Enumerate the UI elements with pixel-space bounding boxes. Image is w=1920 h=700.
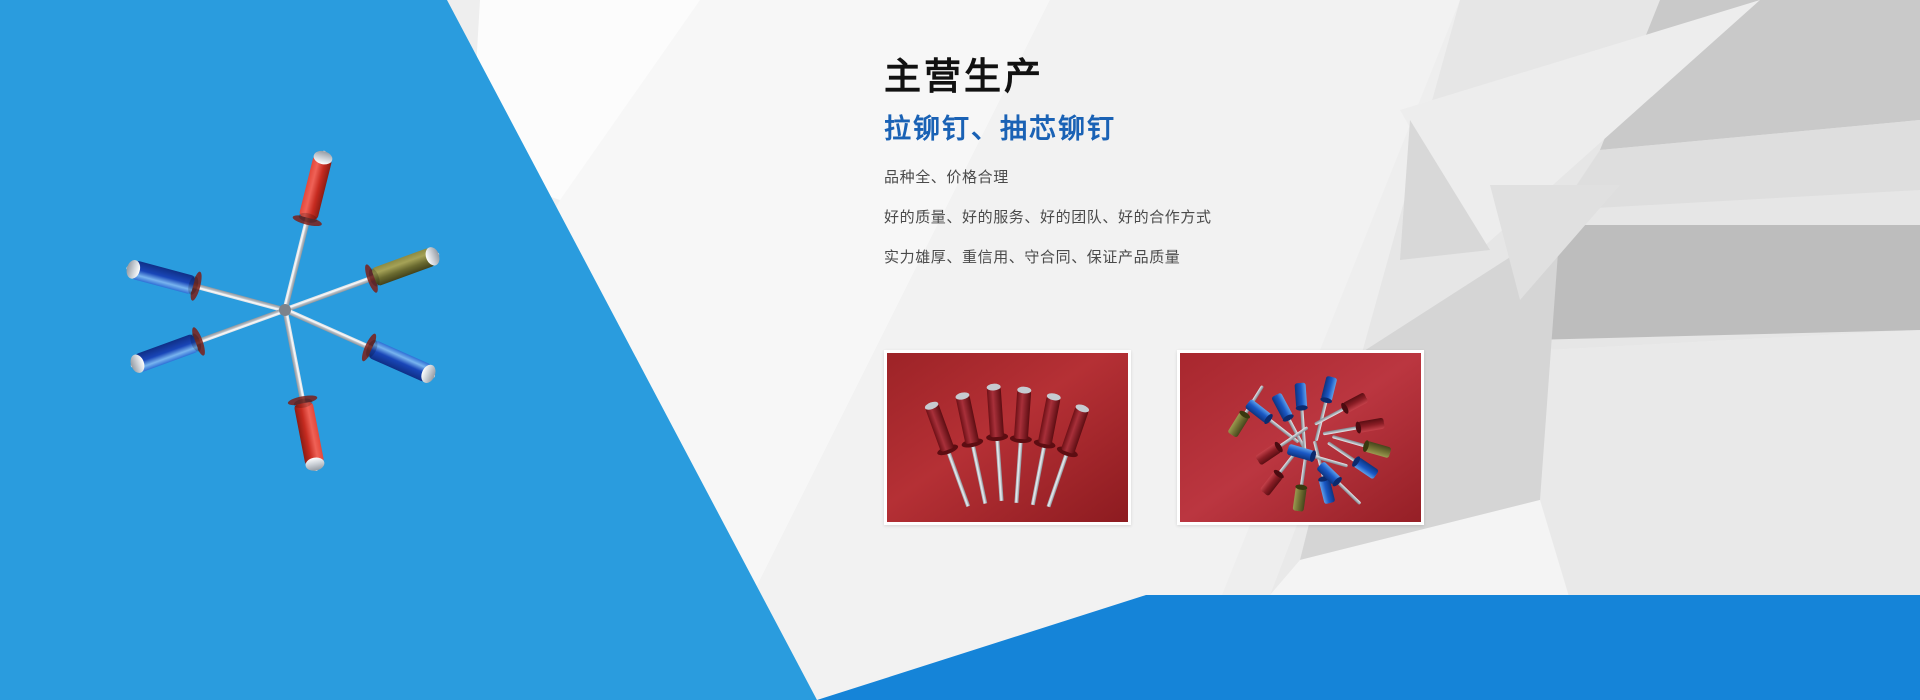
product-photo-mixed-rivets[interactable]: 多色抽芯铆钉散堆 (1177, 350, 1424, 525)
product-photo-red-rivets[interactable]: 红色抽芯铆钉扇形排列 (884, 350, 1131, 525)
banner-text-column: 主营生产 拉铆钉、抽芯铆钉 品种全、价格合理 好的质量、好的服务、好的团队、好的… (884, 55, 1524, 290)
product-thumbnail-row: 红色抽芯铆钉扇形排列 (884, 350, 1424, 525)
selling-points-list: 品种全、价格合理 好的质量、好的服务、好的团队、好的合作方式 实力雄厚、重信用、… (884, 167, 1524, 268)
blue-bottom-band (817, 595, 1920, 700)
promo-banner: 六支彩色抽芯铆钉呈放射星形排列 (0, 0, 1920, 700)
hero-product-image: 六支彩色抽芯铆钉呈放射星形排列 (55, 60, 515, 560)
selling-point: 实力雄厚、重信用、守合同、保证产品质量 (884, 247, 1524, 269)
selling-point: 品种全、价格合理 (884, 167, 1524, 189)
selling-point: 好的质量、好的服务、好的团队、好的合作方式 (884, 207, 1524, 229)
product-subtitle: 拉铆钉、抽芯铆钉 (884, 113, 1524, 147)
page-title: 主营生产 (884, 55, 1524, 99)
